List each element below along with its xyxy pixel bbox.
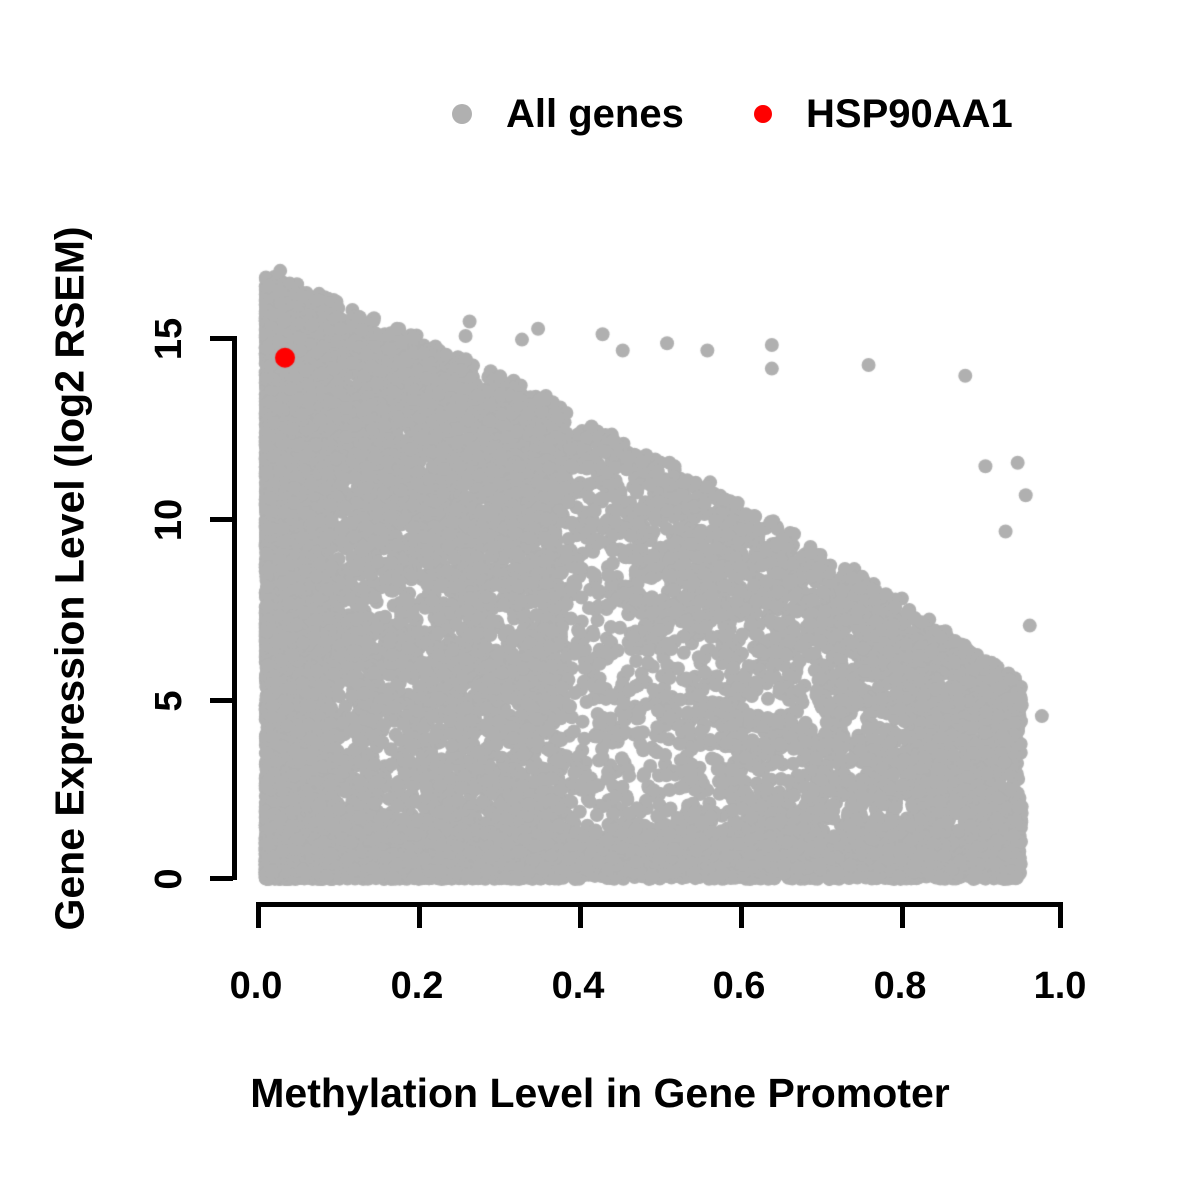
scatter-plot-figure: All genes HSP90AA1 15 10 5 0 0.0 0.2 0.4… — [0, 0, 1200, 1200]
y-axis-tick-label-0: 0 — [150, 862, 188, 896]
y-axis-tick-label-5: 5 — [150, 684, 188, 718]
legend-marker-all-genes-icon — [452, 104, 472, 124]
y-axis-title: Gene Expression Level (log2 RSEM) — [47, 154, 94, 1004]
x-axis-line — [256, 902, 1063, 907]
x-axis-tick-label-1.0: 1.0 — [1000, 967, 1120, 1005]
legend-label-hsp90aa1: HSP90AA1 — [806, 94, 1013, 134]
y-axis-tick-label-15: 15 — [150, 309, 188, 369]
y-axis-tick-10 — [210, 517, 233, 522]
x-axis-tick-1.0 — [1058, 902, 1063, 928]
x-axis-tick-0.6 — [739, 902, 744, 928]
x-axis-title: Methylation Level in Gene Promoter — [0, 1070, 1200, 1117]
y-axis-tick-5 — [210, 698, 233, 703]
x-axis-tick-0.2 — [417, 902, 422, 928]
y-axis-line — [232, 336, 237, 880]
legend-item-hsp90aa1: HSP90AA1 — [754, 94, 1013, 134]
x-axis-tick-label-0.4: 0.4 — [518, 967, 638, 1005]
y-axis-tick-0 — [210, 876, 233, 881]
legend-item-all-genes: All genes — [452, 94, 684, 134]
scatter-plot-canvas — [0, 0, 1200, 1200]
x-axis-tick-0.4 — [578, 902, 583, 928]
y-axis-tick-label-10: 10 — [150, 490, 188, 550]
chart-legend: All genes HSP90AA1 — [0, 0, 1200, 160]
y-axis-tick-15 — [210, 336, 233, 341]
x-axis-tick-0.8 — [900, 902, 905, 928]
x-axis-tick-0.0 — [256, 902, 261, 928]
x-axis-tick-label-0.2: 0.2 — [357, 967, 477, 1005]
x-axis-tick-label-0.6: 0.6 — [679, 967, 799, 1005]
legend-label-all-genes: All genes — [506, 94, 684, 134]
legend-marker-hsp90aa1-icon — [754, 105, 772, 123]
x-axis-tick-label-0.8: 0.8 — [840, 967, 960, 1005]
x-axis-tick-label-0.0: 0.0 — [196, 967, 316, 1005]
